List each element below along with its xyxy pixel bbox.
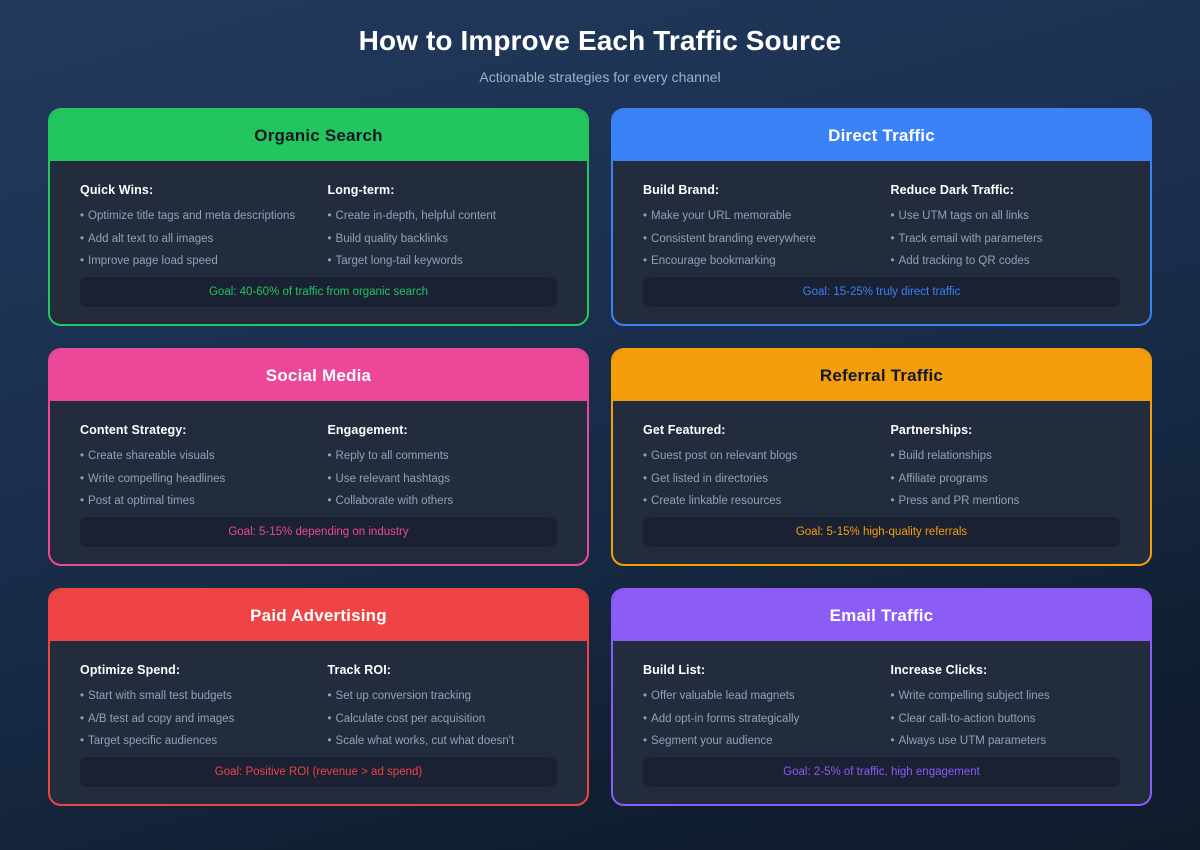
list-item: •Get listed in directories [643, 474, 873, 497]
tip-list: •Optimize title tags and meta descriptio… [80, 211, 310, 268]
list-item: •Target specific audiences [80, 736, 310, 748]
traffic-source-card: Organic Search Quick Wins: •Optimize tit… [48, 108, 589, 326]
bullet-icon: • [643, 450, 647, 462]
list-item: •Start with small test budgets [80, 691, 310, 714]
list-item-label: Build quality backlinks [336, 233, 449, 245]
tip-list: •Guest post on relevant blogs •Get liste… [643, 451, 873, 508]
card-column-right: Reduce Dark Traffic: •Use UTM tags on al… [891, 183, 1121, 268]
card-column-left: Content Strategy: •Create shareable visu… [80, 423, 310, 508]
bullet-icon: • [80, 233, 84, 245]
card-title: Referral Traffic [820, 366, 943, 386]
page-header: How to Improve Each Traffic Source Actio… [48, 18, 1152, 85]
card-columns: Build Brand: •Make your URL memorable •C… [643, 183, 1120, 268]
card-column-left: Quick Wins: •Optimize title tags and met… [80, 183, 310, 268]
list-item-label: Create shareable visuals [88, 450, 215, 462]
card-columns: Content Strategy: •Create shareable visu… [80, 423, 557, 508]
bullet-icon: • [328, 210, 332, 222]
list-item-label: Optimize title tags and meta description… [88, 210, 295, 222]
bullet-icon: • [643, 210, 647, 222]
card-columns: Build List: •Offer valuable lead magnets… [643, 663, 1120, 748]
list-item-label: Always use UTM parameters [899, 735, 1047, 747]
list-item-label: Press and PR mentions [899, 495, 1020, 507]
tip-list: •Create shareable visuals •Write compell… [80, 451, 310, 508]
card-column-right: Partnerships: •Build relationships •Affi… [891, 423, 1121, 508]
column-heading: Long-term: [328, 183, 558, 197]
list-item-label: Use UTM tags on all links [899, 210, 1029, 222]
list-item: •Encourage bookmarking [643, 256, 873, 268]
bullet-icon: • [80, 255, 84, 267]
list-item-label: A/B test ad copy and images [88, 713, 234, 725]
tip-list: •Create in-depth, helpful content •Build… [328, 211, 558, 268]
card-columns: Get Featured: •Guest post on relevant bl… [643, 423, 1120, 508]
bullet-icon: • [643, 713, 647, 725]
card-title: Paid Advertising [250, 606, 387, 626]
traffic-source-card: Social Media Content Strategy: •Create s… [48, 348, 589, 566]
bullet-icon: • [80, 473, 84, 485]
goal-box: Goal: 40-60% of traffic from organic sea… [80, 277, 557, 307]
bullet-icon: • [643, 473, 647, 485]
tip-list: •Build relationships •Affiliate programs… [891, 451, 1121, 508]
list-item-label: Offer valuable lead magnets [651, 690, 795, 702]
list-item-label: Build relationships [899, 450, 992, 462]
bullet-icon: • [328, 450, 332, 462]
card-columns: Quick Wins: •Optimize title tags and met… [80, 183, 557, 268]
card-column-right: Long-term: •Create in-depth, helpful con… [328, 183, 558, 268]
column-heading: Build Brand: [643, 183, 873, 197]
tip-list: •Make your URL memorable •Consistent bra… [643, 211, 873, 268]
list-item: •Post at optimal times [80, 496, 310, 508]
card-title: Direct Traffic [828, 126, 935, 146]
traffic-source-card: Referral Traffic Get Featured: •Guest po… [611, 348, 1152, 566]
column-heading: Partnerships: [891, 423, 1121, 437]
card-title: Social Media [266, 366, 371, 386]
list-item-label: Improve page load speed [88, 255, 218, 267]
list-item: •Add alt text to all images [80, 234, 310, 257]
list-item: •Segment your audience [643, 736, 873, 748]
card-header: Referral Traffic [613, 350, 1150, 401]
bullet-icon: • [891, 735, 895, 747]
column-heading: Get Featured: [643, 423, 873, 437]
column-heading: Optimize Spend: [80, 663, 310, 677]
page-title: How to Improve Each Traffic Source [48, 23, 1152, 58]
bullet-icon: • [643, 735, 647, 747]
bullet-icon: • [328, 690, 332, 702]
bullet-icon: • [80, 735, 84, 747]
list-item: •Add tracking to QR codes [891, 256, 1121, 268]
traffic-source-card-grid: Organic Search Quick Wins: •Optimize tit… [48, 108, 1152, 806]
card-body: Get Featured: •Guest post on relevant bl… [613, 401, 1150, 564]
list-item-label: Track email with parameters [899, 233, 1043, 245]
goal-text: Goal: 40-60% of traffic from organic sea… [209, 286, 428, 298]
card-body: Content Strategy: •Create shareable visu… [50, 401, 587, 564]
bullet-icon: • [328, 713, 332, 725]
bullet-icon: • [328, 735, 332, 747]
list-item-label: Target specific audiences [88, 735, 217, 747]
list-item-label: Target long-tail keywords [336, 255, 463, 267]
card-header: Direct Traffic [613, 110, 1150, 161]
list-item-label: Add alt text to all images [88, 233, 213, 245]
card-body: Build Brand: •Make your URL memorable •C… [613, 161, 1150, 324]
list-item: •Calculate cost per acquisition [328, 714, 558, 737]
tip-list: •Write compelling subject lines •Clear c… [891, 691, 1121, 748]
goal-text: Goal: 15-25% truly direct traffic [803, 286, 961, 298]
goal-text: Goal: 2-5% of traffic, high engagement [783, 766, 980, 778]
list-item: •Create linkable resources [643, 496, 873, 508]
card-column-right: Engagement: •Reply to all comments •Use … [328, 423, 558, 508]
bullet-icon: • [328, 233, 332, 245]
goal-text: Goal: 5-15% depending on industry [228, 526, 408, 538]
goal-box: Goal: 15-25% truly direct traffic [643, 277, 1120, 307]
list-item: •Add opt-in forms strategically [643, 714, 873, 737]
list-item-label: Start with small test budgets [88, 690, 232, 702]
list-item: •Affiliate programs [891, 474, 1121, 497]
bullet-icon: • [643, 495, 647, 507]
list-item: •Track email with parameters [891, 234, 1121, 257]
card-column-left: Build List: •Offer valuable lead magnets… [643, 663, 873, 748]
card-header: Social Media [50, 350, 587, 401]
traffic-source-card: Paid Advertising Optimize Spend: •Start … [48, 588, 589, 806]
list-item-label: Calculate cost per acquisition [336, 713, 486, 725]
list-item-label: Collaborate with others [336, 495, 454, 507]
card-title: Email Traffic [830, 606, 934, 626]
list-item: •Always use UTM parameters [891, 736, 1121, 748]
list-item: •Offer valuable lead magnets [643, 691, 873, 714]
goal-box: Goal: Positive ROI (revenue > ad spend) [80, 757, 557, 787]
bullet-icon: • [891, 713, 895, 725]
list-item: •Use relevant hashtags [328, 474, 558, 497]
traffic-source-card: Email Traffic Build List: •Offer valuabl… [611, 588, 1152, 806]
bullet-icon: • [328, 255, 332, 267]
list-item-label: Create linkable resources [651, 495, 781, 507]
card-column-left: Optimize Spend: •Start with small test b… [80, 663, 310, 748]
column-heading: Reduce Dark Traffic: [891, 183, 1121, 197]
card-body: Optimize Spend: •Start with small test b… [50, 641, 587, 804]
list-item-label: Post at optimal times [88, 495, 195, 507]
list-item: •Create shareable visuals [80, 451, 310, 474]
list-item: •Target long-tail keywords [328, 256, 558, 268]
goal-text: Goal: Positive ROI (revenue > ad spend) [215, 766, 422, 778]
list-item: •Guest post on relevant blogs [643, 451, 873, 474]
tip-list: •Start with small test budgets •A/B test… [80, 691, 310, 748]
card-columns: Optimize Spend: •Start with small test b… [80, 663, 557, 748]
bullet-icon: • [891, 210, 895, 222]
column-heading: Quick Wins: [80, 183, 310, 197]
tip-list: •Use UTM tags on all links •Track email … [891, 211, 1121, 268]
bullet-icon: • [643, 690, 647, 702]
bullet-icon: • [891, 255, 895, 267]
list-item: •Optimize title tags and meta descriptio… [80, 211, 310, 234]
list-item: •Press and PR mentions [891, 496, 1121, 508]
list-item-label: Add opt-in forms strategically [651, 713, 799, 725]
list-item-label: Consistent branding everywhere [651, 233, 816, 245]
card-body: Build List: •Offer valuable lead magnets… [613, 641, 1150, 804]
bullet-icon: • [80, 450, 84, 462]
column-heading: Engagement: [328, 423, 558, 437]
bullet-icon: • [891, 450, 895, 462]
card-column-right: Track ROI: •Set up conversion tracking •… [328, 663, 558, 748]
card-column-left: Get Featured: •Guest post on relevant bl… [643, 423, 873, 508]
list-item: •Set up conversion tracking [328, 691, 558, 714]
list-item: •Write compelling subject lines [891, 691, 1121, 714]
tip-list: •Set up conversion tracking •Calculate c… [328, 691, 558, 748]
card-header: Paid Advertising [50, 590, 587, 641]
list-item-label: Create in-depth, helpful content [336, 210, 496, 222]
bullet-icon: • [80, 495, 84, 507]
goal-text: Goal: 5-15% high-quality referrals [796, 526, 967, 538]
card-header: Email Traffic [613, 590, 1150, 641]
column-heading: Build List: [643, 663, 873, 677]
card-header: Organic Search [50, 110, 587, 161]
bullet-icon: • [891, 495, 895, 507]
card-column-left: Build Brand: •Make your URL memorable •C… [643, 183, 873, 268]
list-item-label: Affiliate programs [899, 473, 988, 485]
list-item: •Reply to all comments [328, 451, 558, 474]
infographic-page: How to Improve Each Traffic Source Actio… [0, 0, 1200, 850]
tip-list: •Offer valuable lead magnets •Add opt-in… [643, 691, 873, 748]
list-item-label: Write compelling subject lines [899, 690, 1050, 702]
list-item-label: Write compelling headlines [88, 473, 225, 485]
bullet-icon: • [643, 233, 647, 245]
list-item: •Collaborate with others [328, 496, 558, 508]
list-item: •Build relationships [891, 451, 1121, 474]
goal-box: Goal: 2-5% of traffic, high engagement [643, 757, 1120, 787]
list-item-label: Add tracking to QR codes [899, 255, 1030, 267]
bullet-icon: • [80, 713, 84, 725]
bullet-icon: • [328, 495, 332, 507]
bullet-icon: • [80, 690, 84, 702]
list-item: •Use UTM tags on all links [891, 211, 1121, 234]
list-item: •Make your URL memorable [643, 211, 873, 234]
column-heading: Track ROI: [328, 663, 558, 677]
list-item-label: Set up conversion tracking [336, 690, 472, 702]
card-body: Quick Wins: •Optimize title tags and met… [50, 161, 587, 324]
list-item: •Build quality backlinks [328, 234, 558, 257]
bullet-icon: • [643, 255, 647, 267]
list-item: •Consistent branding everywhere [643, 234, 873, 257]
card-column-right: Increase Clicks: •Write compelling subje… [891, 663, 1121, 748]
goal-box: Goal: 5-15% high-quality referrals [643, 517, 1120, 547]
list-item: •Write compelling headlines [80, 474, 310, 497]
goal-box: Goal: 5-15% depending on industry [80, 517, 557, 547]
list-item: •A/B test ad copy and images [80, 714, 310, 737]
traffic-source-card: Direct Traffic Build Brand: •Make your U… [611, 108, 1152, 326]
list-item-label: Make your URL memorable [651, 210, 791, 222]
bullet-icon: • [891, 690, 895, 702]
list-item: •Clear call-to-action buttons [891, 714, 1121, 737]
list-item-label: Use relevant hashtags [336, 473, 450, 485]
list-item-label: Encourage bookmarking [651, 255, 776, 267]
column-heading: Increase Clicks: [891, 663, 1121, 677]
card-title: Organic Search [254, 126, 382, 146]
tip-list: •Reply to all comments •Use relevant has… [328, 451, 558, 508]
bullet-icon: • [891, 233, 895, 245]
list-item: •Improve page load speed [80, 256, 310, 268]
page-subtitle: Actionable strategies for every channel [48, 69, 1152, 85]
list-item-label: Clear call-to-action buttons [899, 713, 1036, 725]
list-item: •Scale what works, cut what doesn't [328, 736, 558, 748]
list-item-label: Segment your audience [651, 735, 772, 747]
bullet-icon: • [328, 473, 332, 485]
column-heading: Content Strategy: [80, 423, 310, 437]
list-item-label: Reply to all comments [336, 450, 449, 462]
list-item-label: Get listed in directories [651, 473, 768, 485]
bullet-icon: • [80, 210, 84, 222]
list-item-label: Guest post on relevant blogs [651, 450, 797, 462]
list-item-label: Scale what works, cut what doesn't [336, 735, 515, 747]
list-item: •Create in-depth, helpful content [328, 211, 558, 234]
bullet-icon: • [891, 473, 895, 485]
